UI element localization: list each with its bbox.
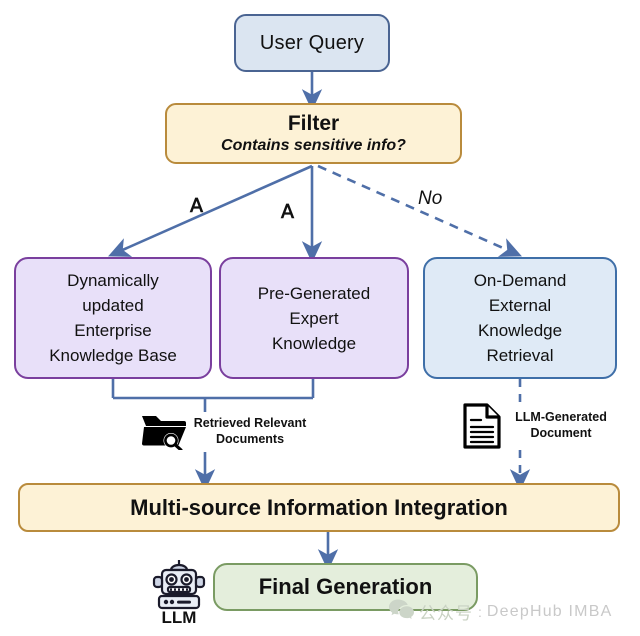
node-knowledge-base-line3: Enterprise <box>74 318 151 343</box>
diagram-canvas: User Query Filter Contains sensitive inf… <box>0 0 640 636</box>
node-filter-title: Filter <box>288 112 339 136</box>
node-knowledge-base-line1: Dynamically <box>67 268 159 293</box>
node-final-generation[interactable]: Final Generation <box>213 563 478 611</box>
edge-label-yes-left: ∀ <box>190 192 203 215</box>
node-expert-knowledge-line1: Pre-Generated <box>258 281 370 306</box>
node-expert-knowledge[interactable]: Pre-Generated Expert Knowledge <box>219 257 409 379</box>
node-on-demand-line2: External <box>489 293 551 318</box>
node-knowledge-base-line2: updated <box>82 293 143 318</box>
node-knowledge-base-line4: Knowledge Base <box>49 343 177 368</box>
node-on-demand-line3: Knowledge <box>478 318 562 343</box>
node-filter-subtitle: Contains sensitive info? <box>221 137 406 155</box>
node-expert-knowledge-line3: Knowledge <box>272 331 356 356</box>
retrieved-documents-line1: Retrieved Relevant <box>186 415 314 431</box>
edge-label-no: No <box>418 188 442 210</box>
edge-filter-to-on-demand <box>318 166 512 252</box>
robot-icon <box>148 558 210 610</box>
node-knowledge-base[interactable]: Dynamically updated Enterprise Knowledge… <box>14 257 212 379</box>
node-on-demand-line1: On-Demand <box>474 268 567 293</box>
node-expert-knowledge-line2: Expert <box>289 306 338 331</box>
node-on-demand-retrieval[interactable]: On-Demand External Knowledge Retrieval <box>423 257 617 379</box>
node-multisource-integration[interactable]: Multi-source Information Integration <box>18 483 620 532</box>
llm-document-line2: Document <box>506 425 616 441</box>
node-integration-label: Multi-source Information Integration <box>130 495 508 521</box>
retrieved-documents-line2: Documents <box>186 431 314 447</box>
robot-icon-label: LLM <box>148 608 210 628</box>
document-icon <box>462 403 502 449</box>
node-user-query[interactable]: User Query <box>234 14 390 72</box>
node-on-demand-line4: Retrieval <box>486 343 553 368</box>
edge-label-yes-middle: ∀ <box>281 198 294 221</box>
folder-search-icon <box>140 410 186 450</box>
llm-document-line1: LLM-Generated <box>506 409 616 425</box>
retrieved-documents-caption: Retrieved Relevant Documents <box>186 415 314 447</box>
node-final-generation-label: Final Generation <box>259 574 433 600</box>
node-filter[interactable]: Filter Contains sensitive info? <box>165 103 462 164</box>
node-user-query-label: User Query <box>260 32 364 55</box>
llm-document-caption: LLM-Generated Document <box>506 409 616 441</box>
